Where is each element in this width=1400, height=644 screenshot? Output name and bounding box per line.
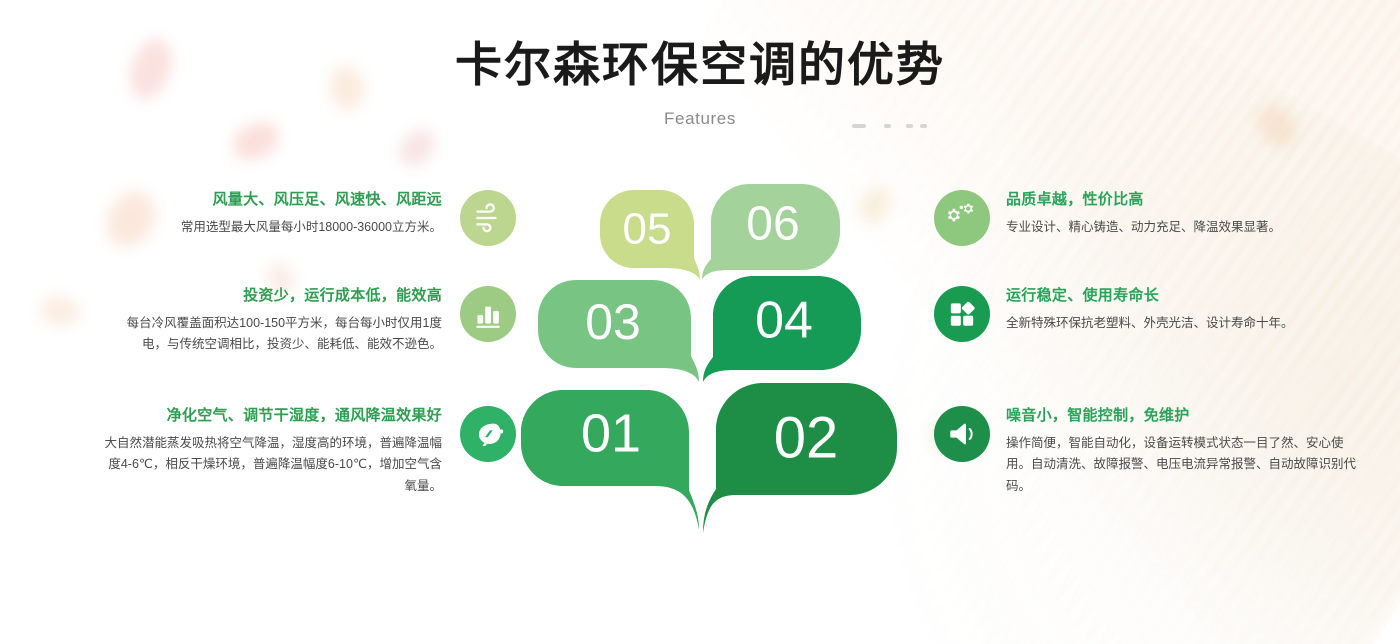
bar-chart-icon-glyph [471,297,505,331]
petal-decoration [854,182,896,228]
speaker-icon-glyph [945,417,979,451]
wind-icon-glyph [471,201,505,235]
feature-left-1: 风量大、风压足、风速快、风距远 常用选型最大风量每小时18000-36000立方… [96,190,516,246]
feature-right-1: 品质卓越，性价比高 专业设计、精心铸造、动力充足、降温效果显著。 [934,190,1354,246]
leaf-shape-03[interactable] [538,280,699,382]
leaf-shape-05[interactable] [600,190,700,280]
gears-icon[interactable] [934,190,990,246]
feature-title: 风量大、风压足、风速快、风距远 [212,190,442,210]
feature-title: 净化空气、调节干湿度，通风降温效果好 [167,406,442,426]
leaf-icon[interactable] [460,406,516,462]
leaf-shape-06[interactable] [702,184,840,280]
leaf-icon-glyph [471,417,505,451]
petal-decoration [37,292,82,330]
feature-text: 风量大、风压足、风速快、风距远 常用选型最大风量每小时18000-36000立方… [181,190,442,238]
feature-right-3: 噪音小，智能控制，免维护 操作简便，智能自动化，设备运转模式状态一目了然、安心使… [934,406,1364,497]
feature-title: 噪音小，智能控制，免维护 [1006,406,1190,426]
feature-description: 常用选型最大风量每小时18000-36000立方米。 [181,217,442,239]
feature-description: 专业设计、精心铸造、动力充足、降温效果显著。 [1006,217,1281,239]
bar-chart-icon[interactable] [460,286,516,342]
gears-icon-glyph [944,200,980,236]
feature-title: 品质卓越，性价比高 [1006,190,1144,210]
feature-text: 品质卓越，性价比高 专业设计、精心铸造、动力充足、降温效果显著。 [1006,190,1281,238]
page-title: 卡尔森环保空调的优势 [0,36,1400,93]
feature-description: 每台冷风覆盖面积达100-150平方米，每台每小时仅用1度电，与传统空调相比，投… [106,313,442,356]
feature-description: 大自然潜能蒸发吸热将空气降温，湿度高的环境，普遍降温幅度4-6℃，相反干燥环境，… [96,433,442,498]
speaker-icon[interactable] [934,406,990,462]
blocks-icon[interactable] [934,286,990,342]
leaf-shape-02[interactable] [703,383,897,533]
blocks-icon-glyph [945,297,979,331]
feature-description: 操作简便，智能自动化，设备运转模式状态一目了然、安心使用。自动清洗、故障报警、电… [1006,433,1358,498]
feature-text: 投资少，运行成本低，能效高 每台冷风覆盖面积达100-150平方米，每台每小时仅… [106,286,442,356]
feature-text: 噪音小，智能控制，免维护 操作简便，智能自动化，设备运转模式状态一目了然、安心使… [1006,406,1358,497]
leaf-shape-01[interactable] [521,390,699,530]
feature-left-3: 净化空气、调节干湿度，通风降温效果好 大自然潜能蒸发吸热将空气降温，湿度高的环境… [96,406,516,497]
petal-decoration [393,123,442,173]
leaf-shape-04[interactable] [703,276,861,382]
feature-text: 运行稳定、使用寿命长 全新特殊环保抗老塑料、外壳光洁、设计寿命十年。 [1006,286,1294,334]
page-subtitle: Features [0,109,1400,129]
feature-text: 净化空气、调节干湿度，通风降温效果好 大自然潜能蒸发吸热将空气降温，湿度高的环境… [96,406,442,497]
wind-icon[interactable] [460,190,516,246]
feature-title: 运行稳定、使用寿命长 [1006,286,1159,306]
page-header: 卡尔森环保空调的优势 Features [0,36,1400,129]
feature-left-2: 投资少，运行成本低，能效高 每台冷风覆盖面积达100-150平方米，每台每小时仅… [96,286,516,356]
feature-description: 全新特殊环保抗老塑料、外壳光洁、设计寿命十年。 [1006,313,1294,335]
feature-title: 投资少，运行成本低，能效高 [243,286,442,306]
feature-right-2: 运行稳定、使用寿命长 全新特殊环保抗老塑料、外壳光洁、设计寿命十年。 [934,286,1354,342]
